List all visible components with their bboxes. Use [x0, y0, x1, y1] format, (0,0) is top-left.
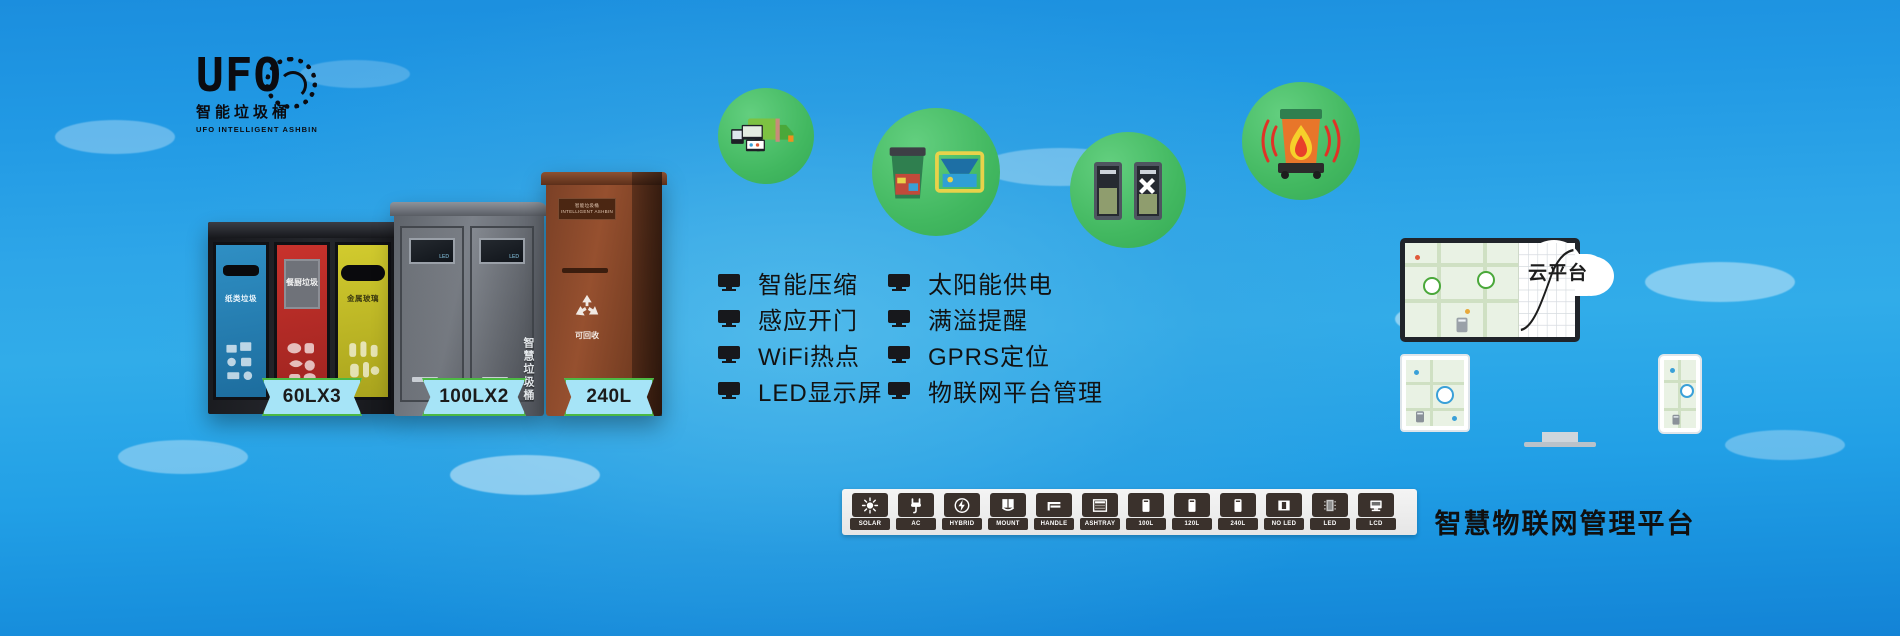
spec-label: AC [911, 521, 920, 527]
led-icon [1320, 497, 1340, 514]
smart-collection-truck-icon [729, 110, 803, 163]
capacity-banner-240l: 240L [564, 378, 654, 416]
cloud-platform-label: 云平台 [1492, 258, 1624, 285]
monitor-icon [718, 382, 740, 399]
recycle-icon [572, 292, 602, 322]
no-led-icon [1274, 497, 1294, 514]
feature-item: WiFi热点 [718, 337, 860, 372]
monitor-icon [888, 346, 910, 363]
waste-slot [223, 265, 259, 276]
spec-label: 240L [1231, 521, 1246, 527]
spec-label: NO LED [1272, 521, 1296, 527]
phone-map [1664, 360, 1696, 428]
background-cloud [1725, 430, 1845, 460]
spec-120l: 120L [1171, 493, 1213, 531]
tablet-map [1406, 360, 1464, 426]
spec-solar: SOLAR [849, 493, 891, 531]
spec-led: LED [1309, 493, 1351, 531]
feature-label: GPRS定位 [928, 337, 1050, 372]
spec-100l: 100L [1125, 493, 1167, 531]
iot-platform-illustration: 云平台 [1400, 238, 1730, 438]
feature-label: 满溢提醒 [928, 301, 1028, 336]
spec-hybrid: HYBRID [941, 493, 983, 531]
feature-label: 物联网平台管理 [928, 373, 1103, 408]
compartment-artwork [223, 335, 259, 389]
spec-handle: HANDLE [1033, 493, 1075, 531]
spec-icon-strip: SOLAR AC HYBRID MOUNT HANDLE [842, 489, 1417, 535]
monitor-icon [888, 274, 910, 291]
feature-item: LED显示屏 [718, 373, 883, 408]
monitor-icon [888, 310, 910, 327]
monitor-icon [718, 310, 740, 327]
spec-label: 100L [1139, 521, 1154, 527]
spec-label: HANDLE [1041, 521, 1068, 527]
spec-label: MOUNT [996, 521, 1020, 527]
metal-glass-compartment: 金属玻璃 [335, 242, 391, 400]
fire-alarm-icon [1258, 101, 1344, 181]
desktop-monitor [1400, 238, 1580, 342]
waste-compaction-icon [884, 136, 988, 208]
spec-no-led: NO LED [1263, 493, 1305, 531]
capacity-label: 240L [586, 386, 631, 408]
background-cloud [450, 455, 600, 495]
kitchen-waste-compartment: 餐厨垃圾 [274, 242, 330, 400]
led-display: LED [409, 238, 455, 264]
feature-item: GPRS定位 [888, 337, 1050, 372]
recycle-label: 可回收 [558, 330, 616, 341]
fill-level-comparison-icon [1086, 154, 1170, 226]
feature-item: 智能压缩 [718, 265, 858, 300]
monitor-icon [718, 346, 740, 363]
feature-circle-waste-compaction [872, 108, 1000, 236]
platform-caption: 智慧物联网管理平台 [1380, 502, 1750, 541]
feature-label: 智能压缩 [758, 265, 858, 300]
monitor-icon [718, 274, 740, 291]
ring-icon [265, 57, 317, 109]
feature-circle-fill-level [1070, 132, 1186, 248]
bin-signage-text: 智能垃圾桶 INTELLIGENT ASHBIN [559, 203, 615, 215]
bin-door-left: LED [400, 226, 464, 402]
phone-device [1658, 354, 1702, 434]
sun-icon [860, 497, 880, 514]
bin-lid [390, 202, 548, 216]
compartment-label: 餐厨垃圾 [286, 277, 318, 288]
monitor-icon [888, 382, 910, 399]
spec-ashtray: ASHTRAY [1079, 493, 1121, 531]
bin-lid [208, 222, 396, 238]
logo-english-tagline: UFO INTELLIGENT ASHBIN [196, 125, 320, 134]
bin-100l-icon [1136, 497, 1156, 514]
tablet-device [1400, 354, 1470, 432]
spec-240l: 240L [1217, 493, 1259, 531]
spec-label: HYBRID [950, 521, 975, 527]
feature-item: 物联网平台管理 [888, 373, 1103, 408]
brand-logo: UFO 智能垃圾桶 UFO INTELLIGENT ASHBIN [196, 52, 320, 152]
spec-ac: AC [895, 493, 937, 531]
spec-mount: MOUNT [987, 493, 1029, 531]
capacity-label: 60LX3 [283, 386, 341, 408]
feature-label: 太阳能供电 [928, 265, 1053, 300]
paper-waste-compartment: 纸类垃圾 [213, 242, 269, 400]
feature-item: 感应开门 [718, 301, 858, 336]
capacity-banner-100lx2: 100LX2 [422, 378, 526, 416]
compartment-display: 餐厨垃圾 [284, 259, 320, 309]
compartment-label: 纸类垃圾 [216, 293, 266, 304]
feature-label: 感应开门 [758, 301, 858, 336]
plug-icon [906, 497, 926, 514]
product-lineup: 纸类垃圾 餐厨垃圾 [180, 180, 700, 460]
mount-icon [998, 497, 1018, 514]
feature-circle-smart-collection [718, 88, 814, 184]
feature-item: 太阳能供电 [888, 265, 1053, 300]
compartment-label: 金属玻璃 [338, 293, 388, 304]
bin-240l-icon [1228, 497, 1248, 514]
capacity-banner-60lx3: 60LX3 [262, 378, 362, 416]
capacity-label: 100LX2 [439, 386, 509, 408]
spec-label: ASHTRAY [1085, 521, 1116, 527]
waste-slot [562, 268, 608, 273]
feature-item: 满溢提醒 [888, 301, 1028, 336]
spec-label: LED [1324, 521, 1337, 527]
handle-icon [1044, 497, 1064, 514]
waste-slot [341, 265, 385, 281]
bin-120l-icon [1182, 497, 1202, 514]
spec-label: SOLAR [859, 521, 882, 527]
recycle-mark: 可回收 [558, 292, 616, 341]
monitor-foot [1524, 442, 1596, 447]
led-display: LED [479, 238, 525, 264]
hybrid-power-icon [952, 497, 972, 514]
feature-circle-fire-alarm [1242, 82, 1360, 200]
ashtray-icon [1090, 497, 1110, 514]
feature-label: WiFi热点 [758, 337, 860, 372]
bin-vertical-text: 智慧垃圾桶 [520, 337, 536, 402]
spec-label: 120L [1185, 521, 1200, 527]
background-cloud [55, 120, 175, 154]
bin-signage: 智能垃圾桶 INTELLIGENT ASHBIN [558, 198, 616, 220]
feature-label: LED显示屏 [758, 373, 883, 408]
